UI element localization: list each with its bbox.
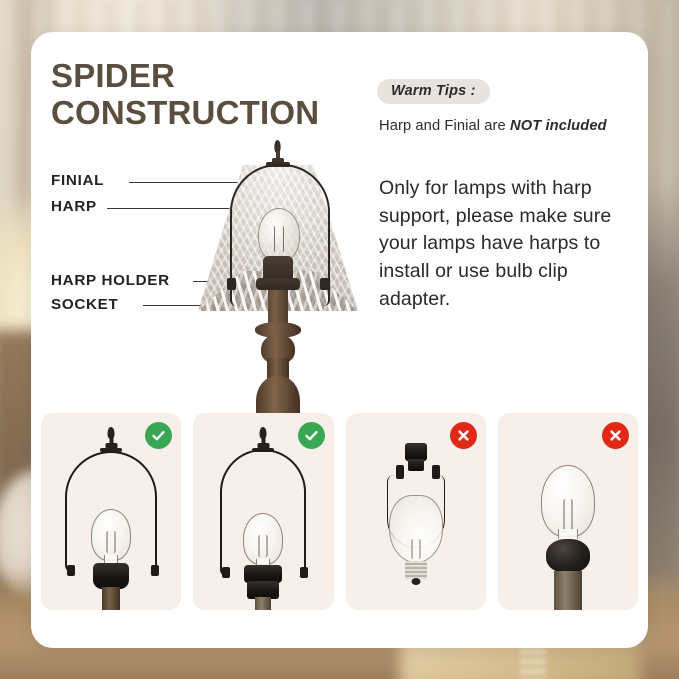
socket-collar [256, 278, 300, 290]
warm-tips-note-emphasis: NOT included [510, 118, 607, 134]
comparison-panels [36, 413, 643, 610]
warm-tips-note-prefix: Harp and Finial are [379, 118, 510, 134]
check-icon [298, 422, 325, 449]
comparison-panel-4 [498, 413, 638, 610]
panel1-lamp-pole [102, 587, 120, 610]
panel2-harp-holder-right [300, 567, 308, 578]
callout-label-harp-holder: HARP HOLDER [51, 272, 170, 289]
content-card: SPIDER CONSTRUCTION Warm Tips : Harp and… [31, 32, 648, 648]
comparison-panel-1 [41, 413, 181, 610]
panel2-bulb-filament [259, 535, 268, 557]
panel1-socket [93, 563, 129, 589]
panel2-harp-holder-left [222, 567, 230, 578]
lamp-diagram [178, 140, 378, 430]
page-title-line-2: CONSTRUCTION [51, 95, 371, 132]
cross-icon [450, 422, 477, 449]
panel3-socket-neck [408, 459, 424, 471]
panel1-harp-holder-left [67, 565, 75, 576]
panel3-bulb-tip [411, 578, 420, 585]
panel3-bulb-filament [411, 539, 420, 559]
panel4-bulb-filament [563, 499, 572, 533]
panel1-finial-icon [105, 427, 118, 449]
bulb-filament [274, 226, 284, 252]
panel4-lamp-pole [554, 571, 582, 610]
panel1-bulb-filament [107, 531, 116, 553]
cross-icon [602, 422, 629, 449]
panel4-socket [546, 539, 590, 573]
comparison-panel-3 [346, 413, 486, 610]
callout-label-socket: SOCKET [51, 296, 119, 313]
callout-label-finial: FINIAL [51, 172, 104, 189]
infographic-stage: SPIDER CONSTRUCTION Warm Tips : Harp and… [0, 0, 679, 679]
panel2-finial-icon [257, 427, 270, 449]
panel1-harp-holder-right [151, 565, 159, 576]
callout-label-harp: HARP [51, 198, 97, 215]
panel3-bulb-screw-base [405, 561, 427, 579]
harp-holder-right [320, 278, 329, 290]
warm-tips-note: Harp and Finial are NOT included [379, 118, 648, 134]
page-title-line-1: SPIDER [51, 58, 371, 95]
harp-holder-left [227, 278, 236, 290]
lamp-neck [268, 290, 288, 324]
warm-tips-badge: Warm Tips : [377, 79, 490, 104]
comparison-panel-2 [193, 413, 333, 610]
panel2-lamp-pole [255, 597, 271, 610]
page-title: SPIDER CONSTRUCTION [51, 58, 371, 132]
check-icon [145, 422, 172, 449]
panel4-bulb-neck [558, 529, 578, 539]
instruction-paragraph: Only for lamps with harp support, please… [379, 175, 629, 313]
